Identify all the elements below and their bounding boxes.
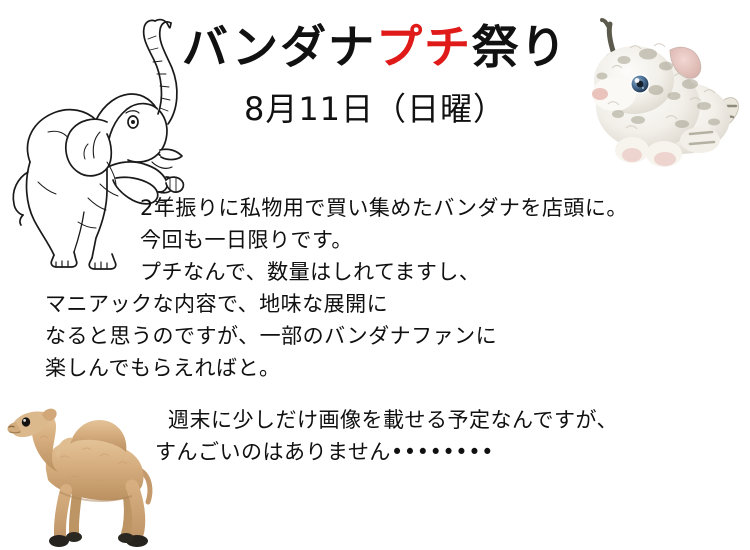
title-highlight: プチ [376, 20, 472, 74]
body-line-1: 2年振りに私物用で買い集めたバンダナを店頭に。 [0, 192, 750, 224]
body-paragraph-2: 週末に少しだけ画像を載せる予定なんですが、 すんごいのはありません•••••••… [0, 404, 750, 468]
body-line-4: マニアックな内容で、地味な展開に [0, 288, 750, 320]
event-date: 8月11日（日曜） [0, 90, 750, 128]
poster-canvas: バンダナプチ祭り 8月11日（日曜） [0, 0, 750, 550]
body-line-6: 楽しんでもらえればと。 [0, 352, 750, 384]
body-line-8: すんごいのはありません•••••••• [0, 436, 750, 468]
title-part-3: 祭り [472, 20, 568, 74]
poster-title: バンダナプチ祭り [0, 22, 750, 73]
title-part-1: バンダナ [182, 20, 376, 74]
body-paragraph-1: 2年振りに私物用で買い集めたバンダナを店頭に。 今回も一日限りです。 プチなんで… [0, 192, 750, 384]
body-line-5: なると思うのですが、一部のバンダナファンに [0, 320, 750, 352]
body-line-2: 今回も一日限りです。 [0, 224, 750, 256]
body-line-3: プチなんで、数量はしれてますし、 [0, 256, 750, 288]
body-line-7: 週末に少しだけ画像を載せる予定なんですが、 [0, 404, 750, 436]
